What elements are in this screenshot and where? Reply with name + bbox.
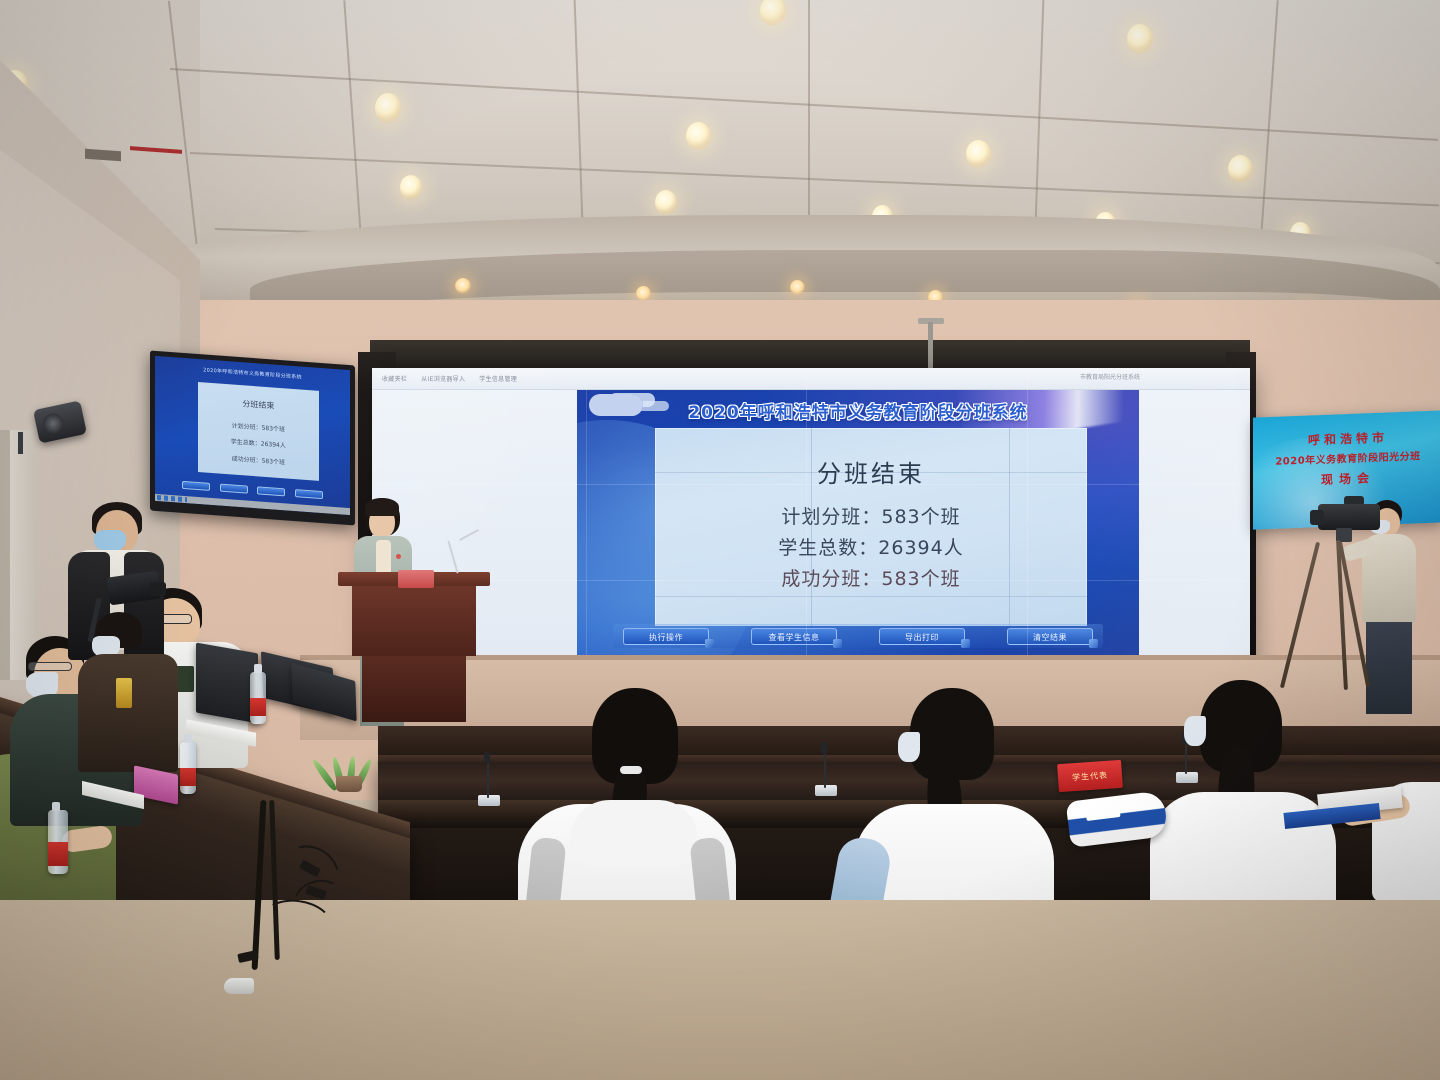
student-face-mask <box>898 732 920 762</box>
bookmark-item[interactable]: 从IE浏览器导入 <box>421 374 465 383</box>
cameraman-trousers <box>1366 622 1412 714</box>
side-monitor-line: 计划分班：583个班 <box>198 418 319 436</box>
bookmark-item[interactable]: 学生信息管理 <box>479 374 517 383</box>
side-monitor-line: 学生总数：26394人 <box>198 434 319 452</box>
class-division-app-window: 2020年呼和浩特市义务教育阶段分班系统 分班结束 计划分班：583个班 学生总… <box>577 390 1139 662</box>
desk-microphone-head <box>484 752 490 764</box>
press-uniform <box>78 654 178 772</box>
desk-microphone-stem <box>487 760 489 798</box>
desk-microphone-base[interactable] <box>815 785 837 796</box>
student-rep-name-card: 学生代表 <box>1057 760 1123 792</box>
execute-operation-button[interactable]: 执行操作 <box>623 628 709 645</box>
side-monitor-screen: 2020年呼和浩特市义务教育阶段分班系统 分班结束 计划分班：583个班 学生总… <box>155 356 350 515</box>
stat-label: 学生总数： <box>778 537 878 559</box>
side-monitor-heading: 分班结束 <box>198 395 319 415</box>
led-tile-seam <box>586 368 587 680</box>
water-bottle[interactable] <box>250 672 266 724</box>
floor <box>0 900 1440 1080</box>
podium-base <box>362 656 466 722</box>
screen-content: 收藏夹栏 从IE浏览器导入 学生信息管理 市教育局阳光分班系统 2020年呼和浩… <box>372 368 1250 680</box>
side-btn-view <box>220 483 248 493</box>
video-camera-lens <box>1310 510 1324 525</box>
conference-room-scene: 收藏夹栏 从IE浏览器导入 学生信息管理 市教育局阳光分班系统 2020年呼和浩… <box>0 0 1440 1080</box>
stat-value: 583个班 <box>881 506 960 528</box>
side-monitor-buttons <box>182 480 322 498</box>
stat-value: 26394人 <box>878 537 963 559</box>
press-photographer <box>78 612 188 772</box>
hair-tie <box>620 766 642 774</box>
led-tile-seam <box>1027 368 1028 680</box>
speaker-hair-front <box>365 498 399 516</box>
soffit-downlight <box>790 280 805 295</box>
led-tile-seam <box>806 368 807 680</box>
desk-microphone-stem <box>824 750 826 788</box>
app-button-bar: 执行操作 查看学生信息 导出打印 清空结果 <box>613 624 1103 648</box>
result-stats: 计划分班：583个班 学生总数：26394人 成功分班：583个班 <box>655 502 1087 591</box>
shoe <box>224 978 254 994</box>
ceiling-downlight <box>686 122 711 150</box>
stat-planned-classes: 计划分班：583个班 <box>781 502 960 529</box>
video-camera-body <box>1318 504 1380 530</box>
ceiling-downlight <box>1127 24 1153 54</box>
student-face-mask <box>1184 716 1206 746</box>
side-monitor-title: 2020年呼和浩特市义务教育阶段分班系统 <box>155 363 350 384</box>
stat-label: 成功分班： <box>781 568 881 590</box>
stat-value: 583个班 <box>881 568 960 590</box>
speaker-lapel-pin <box>396 554 401 559</box>
projector-pole <box>928 322 933 374</box>
bottle-label <box>48 842 68 866</box>
led-tile-seam <box>372 580 1250 581</box>
side-btn-clear <box>295 489 323 499</box>
main-display-screen[interactable]: 收藏夹栏 从IE浏览器导入 学生信息管理 市教育局阳光分班系统 2020年呼和浩… <box>372 368 1250 680</box>
ceiling-downlight <box>1228 155 1253 183</box>
staff-face-mask <box>94 530 126 552</box>
desktop-monitor[interactable] <box>196 643 258 724</box>
export-print-button[interactable]: 导出打印 <box>879 628 965 645</box>
side-monitor-panel: 分班结束 计划分班：583个班 学生总数：26394人 成功分班：583个班 <box>198 382 319 481</box>
side-btn-execute <box>182 480 210 490</box>
desk-microphone-base[interactable] <box>478 795 500 806</box>
water-bottle[interactable] <box>48 810 68 874</box>
podium-name-card <box>398 570 434 588</box>
browser-toolbar[interactable]: 收藏夹栏 从IE浏览器导入 学生信息管理 市教育局阳光分班系统 <box>372 368 1250 390</box>
app-title: 2020年呼和浩特市义务教育阶段分班系统 <box>577 398 1139 423</box>
desk-microphone-head <box>821 742 827 754</box>
clear-results-button[interactable]: 清空结果 <box>1007 628 1093 645</box>
address-bar-hint[interactable]: 市教育局阳光分班系统 <box>1080 372 1140 381</box>
press-badge <box>116 678 132 708</box>
bottle-label <box>250 698 266 716</box>
bookmark-item[interactable]: 收藏夹栏 <box>382 374 407 383</box>
side-monitor-line: 成功分班：583个班 <box>198 450 319 468</box>
view-student-info-button[interactable]: 查看学生信息 <box>751 628 837 645</box>
soffit-downlight <box>455 278 471 294</box>
podium-body <box>352 586 476 656</box>
press-camera-lens <box>150 582 166 596</box>
ceiling-downlight <box>375 93 401 123</box>
water-bottle[interactable] <box>180 742 196 794</box>
ceiling-downlight <box>655 190 677 215</box>
stat-label: 计划分班： <box>781 506 881 528</box>
door-frame-edge <box>0 430 10 680</box>
wall-speaker-arm <box>18 432 23 454</box>
result-panel: 分班结束 计划分班：583个班 学生总数：26394人 成功分班：583个班 <box>655 428 1087 626</box>
soffit-downlight <box>636 286 651 301</box>
bottle-label <box>180 768 196 786</box>
ceiling-downlight <box>966 140 991 168</box>
stat-successful-classes: 成功分班：583个班 <box>781 564 960 591</box>
side-btn-export <box>257 486 285 496</box>
ceiling-downlight <box>400 175 422 200</box>
led-tile-seam <box>372 484 1250 485</box>
hoodie-hood <box>570 800 698 866</box>
side-wall-monitor[interactable]: 2020年呼和浩特市义务教育阶段分班系统 分班结束 计划分班：583个班 学生总… <box>150 350 355 525</box>
